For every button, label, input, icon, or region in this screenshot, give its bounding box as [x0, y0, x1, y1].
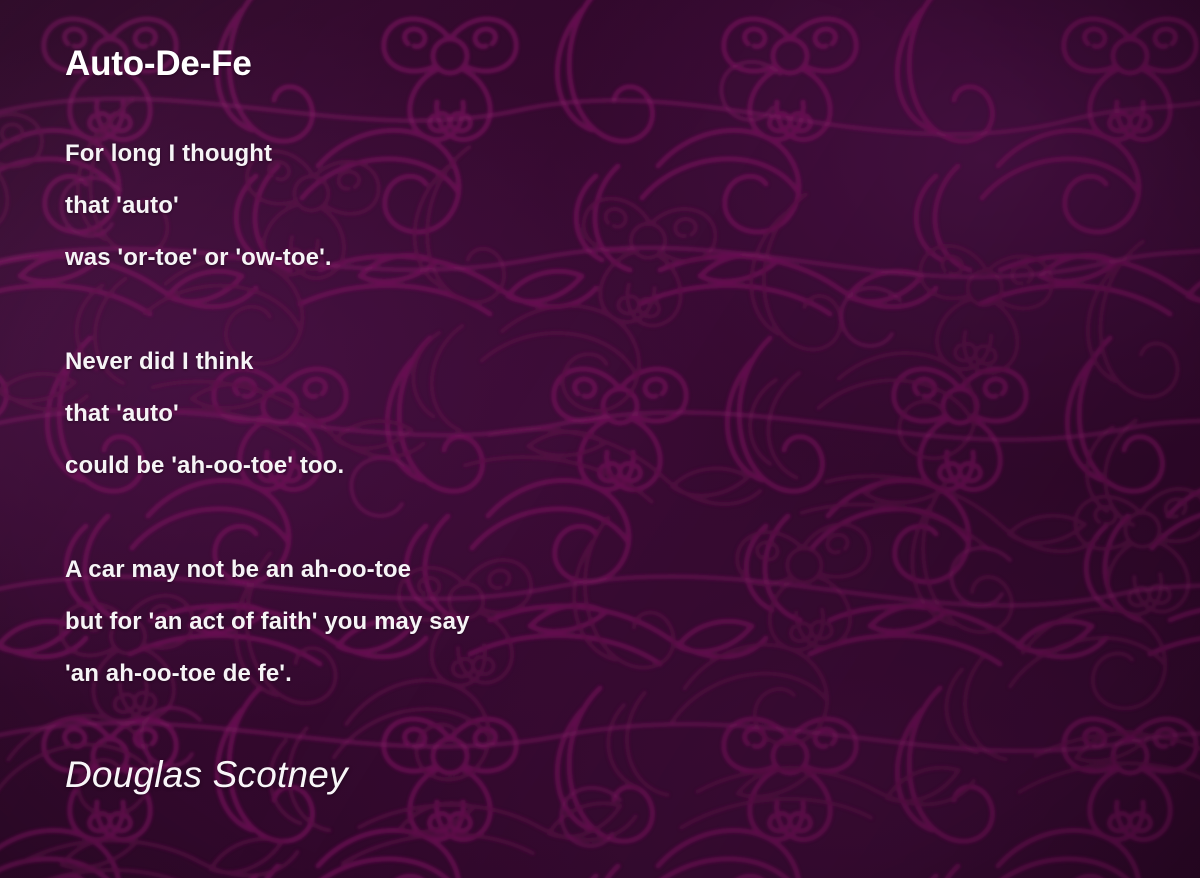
poem-line: 'an ah-oo-toe de fe'. — [65, 648, 1140, 700]
poem-stanza: For long I thought that 'auto' was 'or-t… — [65, 128, 1140, 284]
poem-line: Never did I think — [65, 336, 1140, 388]
poem-stanza: Never did I think that 'auto' could be '… — [65, 336, 1140, 492]
poem-line: For long I thought — [65, 128, 1140, 180]
poem-body: For long I thought that 'auto' was 'or-t… — [65, 128, 1140, 700]
poem-line: could be 'ah-oo-toe' too. — [65, 440, 1140, 492]
poem-line: A car may not be an ah-oo-toe — [65, 544, 1140, 596]
poem-author: Douglas Scotney — [65, 752, 1140, 798]
poem-line: that 'auto' — [65, 180, 1140, 232]
poem-line: that 'auto' — [65, 388, 1140, 440]
poem-line: was 'or-toe' or 'ow-toe'. — [65, 232, 1140, 284]
poem-content: Auto-De-Fe For long I thought that 'auto… — [0, 0, 1200, 798]
poem-stanza: A car may not be an ah-oo-toe but for 'a… — [65, 544, 1140, 700]
poem-image-card: Auto-De-Fe For long I thought that 'auto… — [0, 0, 1200, 878]
poem-line: but for 'an act of faith' you may say — [65, 596, 1140, 648]
poem-title: Auto-De-Fe — [65, 42, 1140, 86]
